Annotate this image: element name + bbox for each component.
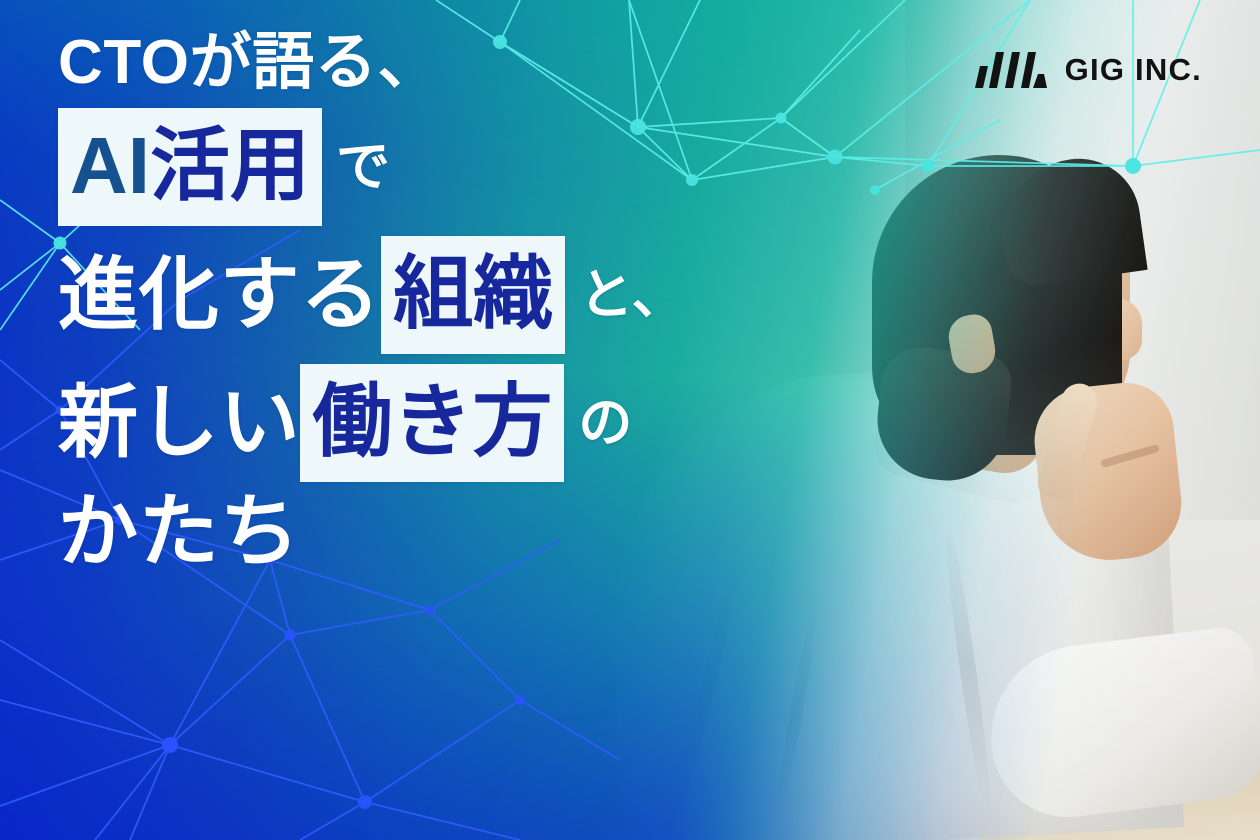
headline-line-4: 新しい 働き方 の <box>58 364 848 482</box>
headline-line-2-suffix: で <box>336 140 391 194</box>
headline-line-1: CTOが語る、 <box>58 32 848 94</box>
highlight-ai-usage: AI活用 <box>58 108 322 226</box>
headline-line-3: 進化する 組織 と、 <box>58 236 848 354</box>
highlight-work-style: 働き方 <box>300 364 564 482</box>
gig-inc-logo[interactable]: GIG INC. <box>971 52 1202 88</box>
headline-block: CTOが語る、 AI活用 で 進化する 組織 と、 新しい 働き方 の かたち <box>58 32 848 572</box>
headline-line-3-prefix: 進化する <box>58 255 381 335</box>
headline-line-3-suffix: と、 <box>579 268 686 322</box>
highlight-ai-kanji: 活用 <box>150 121 310 210</box>
gig-slash-mark-icon <box>971 52 1047 88</box>
headline-line-2: AI活用 で <box>58 108 848 226</box>
logo-wordmark: GIG INC. <box>1065 52 1202 88</box>
highlight-organization: 組織 <box>381 236 565 354</box>
headline-line-5: かたち <box>58 492 848 572</box>
highlight-ai-label: AI <box>70 121 150 210</box>
headline-line-4-suffix: の <box>578 396 633 450</box>
headline-line-1-text: CTOが語る、 <box>58 32 440 94</box>
headline-line-4-prefix: 新しい <box>58 383 300 463</box>
article-hero-banner: CTOが語る、 AI活用 で 進化する 組織 と、 新しい 働き方 の かたち <box>0 0 1260 840</box>
headline-line-5-text: かたち <box>58 492 300 572</box>
